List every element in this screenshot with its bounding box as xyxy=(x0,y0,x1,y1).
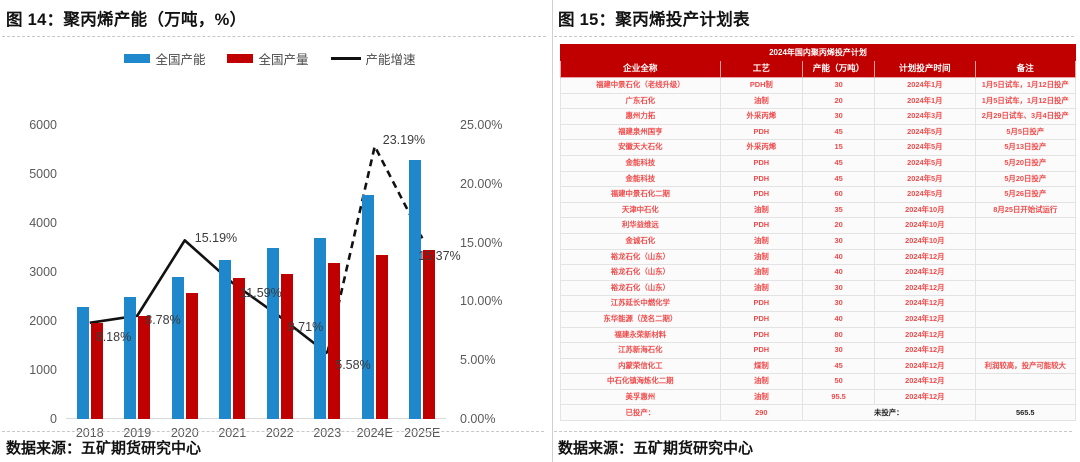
table-cell: PDH xyxy=(720,311,802,327)
bar-output xyxy=(186,293,198,419)
table-cell: PDH xyxy=(720,296,802,312)
table-cell: PDH xyxy=(720,124,802,140)
data-point-label: 8.18% xyxy=(96,330,131,344)
bar-capacity xyxy=(409,160,421,419)
y-axis-right-tick: 0.00% xyxy=(446,412,495,426)
table-cell: 2024年10月 xyxy=(875,233,975,249)
table-row[interactable]: 内蒙荣信化工煤制452024年12月利润较高，投产可能较大 xyxy=(561,358,1076,374)
legend-item-output: 全国产量 xyxy=(227,49,308,68)
table-cell: 35 xyxy=(803,202,875,218)
table-cell: 金能科技 xyxy=(561,171,721,187)
table-banner-row: 2024年国内聚丙烯投产计划 xyxy=(561,45,1076,61)
table-cell: 2024年12月 xyxy=(875,343,975,359)
table-row[interactable]: 福建永荣新材料PDH802024年12月 xyxy=(561,327,1076,343)
table-row[interactable]: 福建泉州国亨PDH452024年5月5月5日投产 xyxy=(561,124,1076,140)
legend-swatch-red xyxy=(227,54,253,63)
table-cell: 45 xyxy=(803,155,875,171)
table-cell xyxy=(975,389,1075,405)
table-cell: 2024年5月 xyxy=(875,140,975,156)
legend-line-growth xyxy=(331,57,361,60)
table-cell: PDH xyxy=(720,155,802,171)
table-cell: 惠州力拓 xyxy=(561,109,721,125)
production-plan-table: 2024年国内聚丙烯投产计划企业全称工艺产能（万吨）计划投产时间备注福建中景石化… xyxy=(560,44,1076,421)
capacity-chart: 全国产能 全国产量 产能增速 0100020003000400050006000… xyxy=(0,37,552,409)
table-cell xyxy=(975,265,1075,281)
table-cell: 15 xyxy=(803,140,875,156)
table-cell: 40 xyxy=(803,265,875,281)
source-note-left: 数据来源：五矿期货研究中心 xyxy=(6,437,201,458)
table-cell: 5月13日投产 xyxy=(975,140,1075,156)
growth-line-series xyxy=(66,125,446,419)
table-cell: 东华能源（茂名二期） xyxy=(561,311,721,327)
table-cell: 油制 xyxy=(720,249,802,265)
y-axis-right-tick: 25.00% xyxy=(446,118,502,132)
bar-output xyxy=(138,316,150,419)
bar-output xyxy=(328,263,340,419)
table-banner-title: 2024年国内聚丙烯投产计划 xyxy=(561,45,1076,61)
table-cell: 40 xyxy=(803,311,875,327)
table-cell: 美孚惠州 xyxy=(561,389,721,405)
table-cell xyxy=(975,233,1075,249)
data-point-label: 8.71% xyxy=(288,320,323,334)
y-axis-right-tick: 10.00% xyxy=(446,294,502,308)
table-cell: PDH制 xyxy=(720,78,802,94)
data-point-label: 11.59% xyxy=(240,286,281,300)
table-cell xyxy=(975,327,1075,343)
table-cell: 油制 xyxy=(720,265,802,281)
legend-label-capacity: 全国产能 xyxy=(155,49,205,68)
table-row[interactable]: 金能科技PDH452024年5月5月20日投产 xyxy=(561,155,1076,171)
table-cell: 30 xyxy=(803,233,875,249)
table-cell: 2024年1月 xyxy=(875,93,975,109)
total-cell: 290 xyxy=(720,405,802,421)
table-row[interactable]: 天津中石化油制352024年10月8月25日开始试运行 xyxy=(561,202,1076,218)
table-cell: 5月5日投产 xyxy=(975,124,1075,140)
table-cell: PDH xyxy=(720,187,802,203)
y-axis-left-tick: 4000 xyxy=(29,216,66,230)
table-cell xyxy=(975,343,1075,359)
table-cell: 1月5日试车，1月12日投产 xyxy=(975,93,1075,109)
bar-capacity xyxy=(267,248,279,420)
divider-bottom-right xyxy=(554,431,1072,432)
table-cell: 2024年5月 xyxy=(875,155,975,171)
table-cell: 2024年1月 xyxy=(875,78,975,94)
table-cell: 2024年12月 xyxy=(875,327,975,343)
table-row[interactable]: 广东石化油制202024年1月1月5日试车，1月12日投产 xyxy=(561,93,1076,109)
table-cell: 油制 xyxy=(720,389,802,405)
bar-capacity xyxy=(77,307,89,419)
bar-capacity xyxy=(124,297,136,419)
x-axis-tick: 2024E xyxy=(357,419,393,440)
y-axis-right-tick: 20.00% xyxy=(446,177,502,191)
y-axis-left-tick: 0 xyxy=(50,412,66,426)
table-cell: 江苏延长中燃化学 xyxy=(561,296,721,312)
table-cell: 2024年5月 xyxy=(875,171,975,187)
table-cell: PDH xyxy=(720,171,802,187)
table-body: 2024年国内聚丙烯投产计划企业全称工艺产能（万吨）计划投产时间备注福建中景石化… xyxy=(561,45,1076,421)
table-cell xyxy=(975,374,1075,390)
column-header[interactable]: 企业全称 xyxy=(561,61,721,78)
table-cell: 福建中景石化二期 xyxy=(561,187,721,203)
table-cell: 利润较高，投产可能较大 xyxy=(975,358,1075,374)
table-cell: 30 xyxy=(803,296,875,312)
table-cell: 金诚石化 xyxy=(561,233,721,249)
legend-label-growth: 产能增速 xyxy=(366,49,416,68)
right-panel-table: 图 15：聚丙烯投产计划表 2024年国内聚丙烯投产计划企业全称工艺产能（万吨）… xyxy=(552,0,1080,462)
table-cell: 8月25日开始试运行 xyxy=(975,202,1075,218)
table-cell: PDH xyxy=(720,218,802,234)
table-cell: 福建中景石化（老线升级） xyxy=(561,78,721,94)
total-cell: 未投产： xyxy=(803,405,976,421)
table-cell: 2024年12月 xyxy=(875,280,975,296)
table-row[interactable]: 裕龙石化（山东）油制402024年12月 xyxy=(561,265,1076,281)
data-point-label: 15.19% xyxy=(195,231,237,245)
table-cell: 裕龙石化（山东） xyxy=(561,280,721,296)
table-cell: PDH xyxy=(720,327,802,343)
table-cell: 2024年12月 xyxy=(875,311,975,327)
table-cell xyxy=(975,280,1075,296)
table-cell: 2024年12月 xyxy=(875,265,975,281)
table-cell: 2024年12月 xyxy=(875,389,975,405)
divider-bottom-left xyxy=(2,431,544,432)
table-row[interactable]: 金能科技PDH452024年5月5月20日投产 xyxy=(561,171,1076,187)
table-cell: 煤制 xyxy=(720,358,802,374)
bar-output xyxy=(281,274,293,419)
table-cell: 40 xyxy=(803,249,875,265)
page-title-right: 图 15：聚丙烯投产计划表 xyxy=(552,0,1080,30)
source-note-right: 数据来源：五矿期货研究中心 xyxy=(558,437,753,458)
table-cell xyxy=(975,296,1075,312)
x-axis-tick: 2025E xyxy=(404,419,440,440)
table-cell: 30 xyxy=(803,343,875,359)
table-cell: 福建永荣新材料 xyxy=(561,327,721,343)
table-row[interactable]: 安徽天大石化外采丙烯152024年5月5月13日投产 xyxy=(561,140,1076,156)
table-cell: 安徽天大石化 xyxy=(561,140,721,156)
table-cell: 油制 xyxy=(720,93,802,109)
table-cell xyxy=(975,218,1075,234)
table-cell: 20 xyxy=(803,93,875,109)
data-point-label: 5.58% xyxy=(335,358,370,372)
legend-label-output: 全国产量 xyxy=(258,49,308,68)
table-row[interactable]: 裕龙石化（山东）油制402024年12月 xyxy=(561,249,1076,265)
table-cell: PDH xyxy=(720,343,802,359)
table-cell: 广东石化 xyxy=(561,93,721,109)
bar-capacity xyxy=(362,195,374,419)
table-cell: 2024年10月 xyxy=(875,218,975,234)
x-axis-tick: 2021 xyxy=(218,419,246,440)
bar-output xyxy=(423,250,435,419)
table-header-row: 企业全称工艺产能（万吨）计划投产时间备注 xyxy=(561,61,1076,78)
table-cell: 江苏新海石化 xyxy=(561,343,721,359)
table-cell: 2024年3月 xyxy=(875,109,975,125)
y-axis-left-tick: 3000 xyxy=(29,265,66,279)
table-cell: 天津中石化 xyxy=(561,202,721,218)
table-cell: 外采丙烯 xyxy=(720,109,802,125)
table-cell: 2月29日试车、3月4日投产 xyxy=(975,109,1075,125)
table-cell: 20 xyxy=(803,218,875,234)
column-header[interactable]: 备注 xyxy=(975,61,1075,78)
bar-capacity xyxy=(219,260,231,419)
table-cell: 外采丙烯 xyxy=(720,140,802,156)
table-cell: 2024年12月 xyxy=(875,249,975,265)
table-cell: 2024年10月 xyxy=(875,202,975,218)
table-row[interactable]: 金诚石化油制302024年10月 xyxy=(561,233,1076,249)
legend-item-capacity: 全国产能 xyxy=(124,49,205,68)
data-point-label: 23.19% xyxy=(383,133,425,147)
table-cell: 5月26日投产 xyxy=(975,187,1075,203)
table-row[interactable]: 东华能源（茂名二期）PDH402024年12月 xyxy=(561,311,1076,327)
table-cell: 50 xyxy=(803,374,875,390)
y-axis-left-tick: 6000 xyxy=(29,118,66,132)
x-axis-tick: 2023 xyxy=(313,419,341,440)
chart-legend: 全国产能 全国产量 产能增速 xyxy=(0,49,540,68)
y-axis-left-tick: 2000 xyxy=(29,314,66,328)
column-header[interactable]: 产能（万吨） xyxy=(803,61,875,78)
table-cell: 95.5 xyxy=(803,389,875,405)
left-panel-chart: 图 14：聚丙烯产能（万吨，%） 全国产能 全国产量 产能增速 xyxy=(0,0,552,462)
table-cell: 裕龙石化（山东） xyxy=(561,265,721,281)
y-axis-left-tick: 1000 xyxy=(29,363,66,377)
legend-swatch-blue xyxy=(124,54,150,63)
table-cell: 80 xyxy=(803,327,875,343)
table-cell: 45 xyxy=(803,358,875,374)
table-cell: 2024年12月 xyxy=(875,374,975,390)
y-axis-left-tick: 5000 xyxy=(29,167,66,181)
total-cell: 565.5 xyxy=(975,405,1075,421)
table-cell: 30 xyxy=(803,280,875,296)
column-header[interactable]: 工艺 xyxy=(720,61,802,78)
table-cell: 2024年12月 xyxy=(875,358,975,374)
table-cell: 油制 xyxy=(720,202,802,218)
table-cell xyxy=(975,311,1075,327)
table-cell: 油制 xyxy=(720,280,802,296)
table-cell: 1月5日试车，1月12日投产 xyxy=(975,78,1075,94)
table-row[interactable]: 美孚惠州油制95.52024年12月 xyxy=(561,389,1076,405)
column-header[interactable]: 计划投产时间 xyxy=(875,61,975,78)
table-cell: 油制 xyxy=(720,374,802,390)
table-cell: 5月20日投产 xyxy=(975,155,1075,171)
table-cell: 裕龙石化（山东） xyxy=(561,249,721,265)
production-plan-table-wrap: 2024年国内聚丙烯投产计划企业全称工艺产能（万吨）计划投产时间备注福建中景石化… xyxy=(560,44,1076,421)
table-cell xyxy=(975,249,1075,265)
y-axis-right-tick: 15.00% xyxy=(446,236,502,250)
table-cell: 2024年12月 xyxy=(875,296,975,312)
table-row[interactable]: 江苏新海石化PDH302024年12月 xyxy=(561,343,1076,359)
table-cell: 60 xyxy=(803,187,875,203)
divider-top-right xyxy=(554,36,1074,37)
y-axis-right-tick: 5.00% xyxy=(446,353,495,367)
table-cell: 2024年5月 xyxy=(875,187,975,203)
legend-item-growth: 产能增速 xyxy=(331,49,416,68)
page-title-left: 图 14：聚丙烯产能（万吨，%） xyxy=(0,0,552,30)
table-cell: 内蒙荣信化工 xyxy=(561,358,721,374)
table-cell: 45 xyxy=(803,171,875,187)
chart-plot-area: 01000200030004000500060000.00%5.00%10.00… xyxy=(66,125,446,419)
table-cell: 30 xyxy=(803,109,875,125)
table-row[interactable]: 裕龙石化（山东）油制302024年12月 xyxy=(561,280,1076,296)
bar-capacity xyxy=(172,277,184,419)
total-cell: 已投产： xyxy=(561,405,721,421)
table-row[interactable]: 利华益维远PDH202024年10月 xyxy=(561,218,1076,234)
table-cell: 金能科技 xyxy=(561,155,721,171)
data-point-label: 8.78% xyxy=(145,313,180,327)
table-cell: 福建泉州国亨 xyxy=(561,124,721,140)
table-cell: 45 xyxy=(803,124,875,140)
x-axis-tick: 2022 xyxy=(266,419,294,440)
table-cell: 30 xyxy=(803,78,875,94)
table-row[interactable]: 惠州力拓外采丙烯302024年3月2月29日试车、3月4日投产 xyxy=(561,109,1076,125)
table-cell: 利华益维远 xyxy=(561,218,721,234)
table-cell: 2024年5月 xyxy=(875,124,975,140)
table-row[interactable]: 中石化镇海炼化二期油制502024年12月 xyxy=(561,374,1076,390)
table-total-row: 已投产：290未投产：565.5 xyxy=(561,405,1076,421)
data-point-label: 15.37% xyxy=(418,249,460,263)
figure-pair-page: 图 14：聚丙烯产能（万吨，%） 全国产能 全国产量 产能增速 xyxy=(0,0,1080,462)
table-cell: 5月20日投产 xyxy=(975,171,1075,187)
bar-output xyxy=(376,255,388,419)
table-row[interactable]: 福建中景石化二期PDH602024年5月5月26日投产 xyxy=(561,187,1076,203)
table-cell: 中石化镇海炼化二期 xyxy=(561,374,721,390)
table-cell: 油制 xyxy=(720,233,802,249)
table-row[interactable]: 福建中景石化（老线升级）PDH制302024年1月1月5日试车，1月12日投产 xyxy=(561,78,1076,94)
table-row[interactable]: 江苏延长中燃化学PDH302024年12月 xyxy=(561,296,1076,312)
